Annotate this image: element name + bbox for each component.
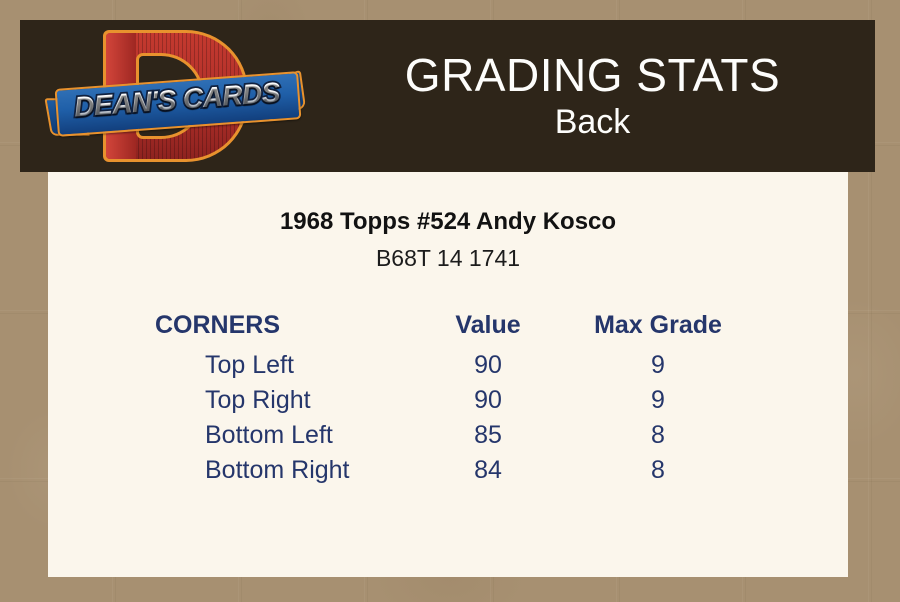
- row-value-bottom-left: 85: [408, 418, 568, 453]
- row-max-grade-bottom-left: 8: [568, 418, 748, 453]
- row-max-grade-top-right: 9: [568, 383, 748, 418]
- logo-ribbon-banner: DEAN'S CARDS DEAN'S CARDS: [48, 76, 304, 128]
- row-label-top-right: Top Right: [48, 383, 408, 418]
- table-row: Bottom Right 84 8: [48, 453, 748, 488]
- column-header-value: Value: [408, 310, 568, 348]
- row-value-bottom-right: 84: [408, 453, 568, 488]
- page-title: GRADING STATS: [405, 50, 780, 100]
- table-row: Top Right 90 9: [48, 383, 748, 418]
- table-row: Top Left 90 9: [48, 348, 748, 383]
- table-row: Bottom Left 85 8: [48, 418, 748, 453]
- row-label-bottom-right: Bottom Right: [48, 453, 408, 488]
- grading-stats-page: DEAN'S CARDS DEAN'S CARDS GRADING STATS …: [0, 0, 900, 602]
- row-label-bottom-left: Bottom Left: [48, 418, 408, 453]
- header-bar: DEAN'S CARDS DEAN'S CARDS GRADING STATS …: [20, 20, 875, 172]
- row-value-top-right: 90: [408, 383, 568, 418]
- stats-table-header: CORNERS Value Max Grade: [48, 310, 748, 348]
- content-panel: 1968 Topps #524 Andy Kosco B68T 14 1741 …: [48, 172, 848, 577]
- card-sku: B68T 14 1741: [48, 236, 848, 272]
- column-header-corners: CORNERS: [48, 310, 408, 348]
- row-label-top-left: Top Left: [48, 348, 408, 383]
- row-value-top-left: 90: [408, 348, 568, 383]
- deans-cards-logo: DEAN'S CARDS DEAN'S CARDS: [48, 26, 304, 166]
- grading-stats-table: CORNERS Value Max Grade Top Left 90 9 To…: [48, 310, 748, 488]
- header-title-group: GRADING STATS Back: [310, 20, 875, 172]
- stats-table-body: Top Left 90 9 Top Right 90 9 Bottom Left…: [48, 348, 748, 488]
- page-subtitle: Back: [555, 102, 631, 142]
- column-header-max-grade: Max Grade: [568, 310, 748, 348]
- card-title: 1968 Topps #524 Andy Kosco: [48, 172, 848, 236]
- row-max-grade-bottom-right: 8: [568, 453, 748, 488]
- row-max-grade-top-left: 9: [568, 348, 748, 383]
- table-header-row: CORNERS Value Max Grade: [48, 310, 748, 348]
